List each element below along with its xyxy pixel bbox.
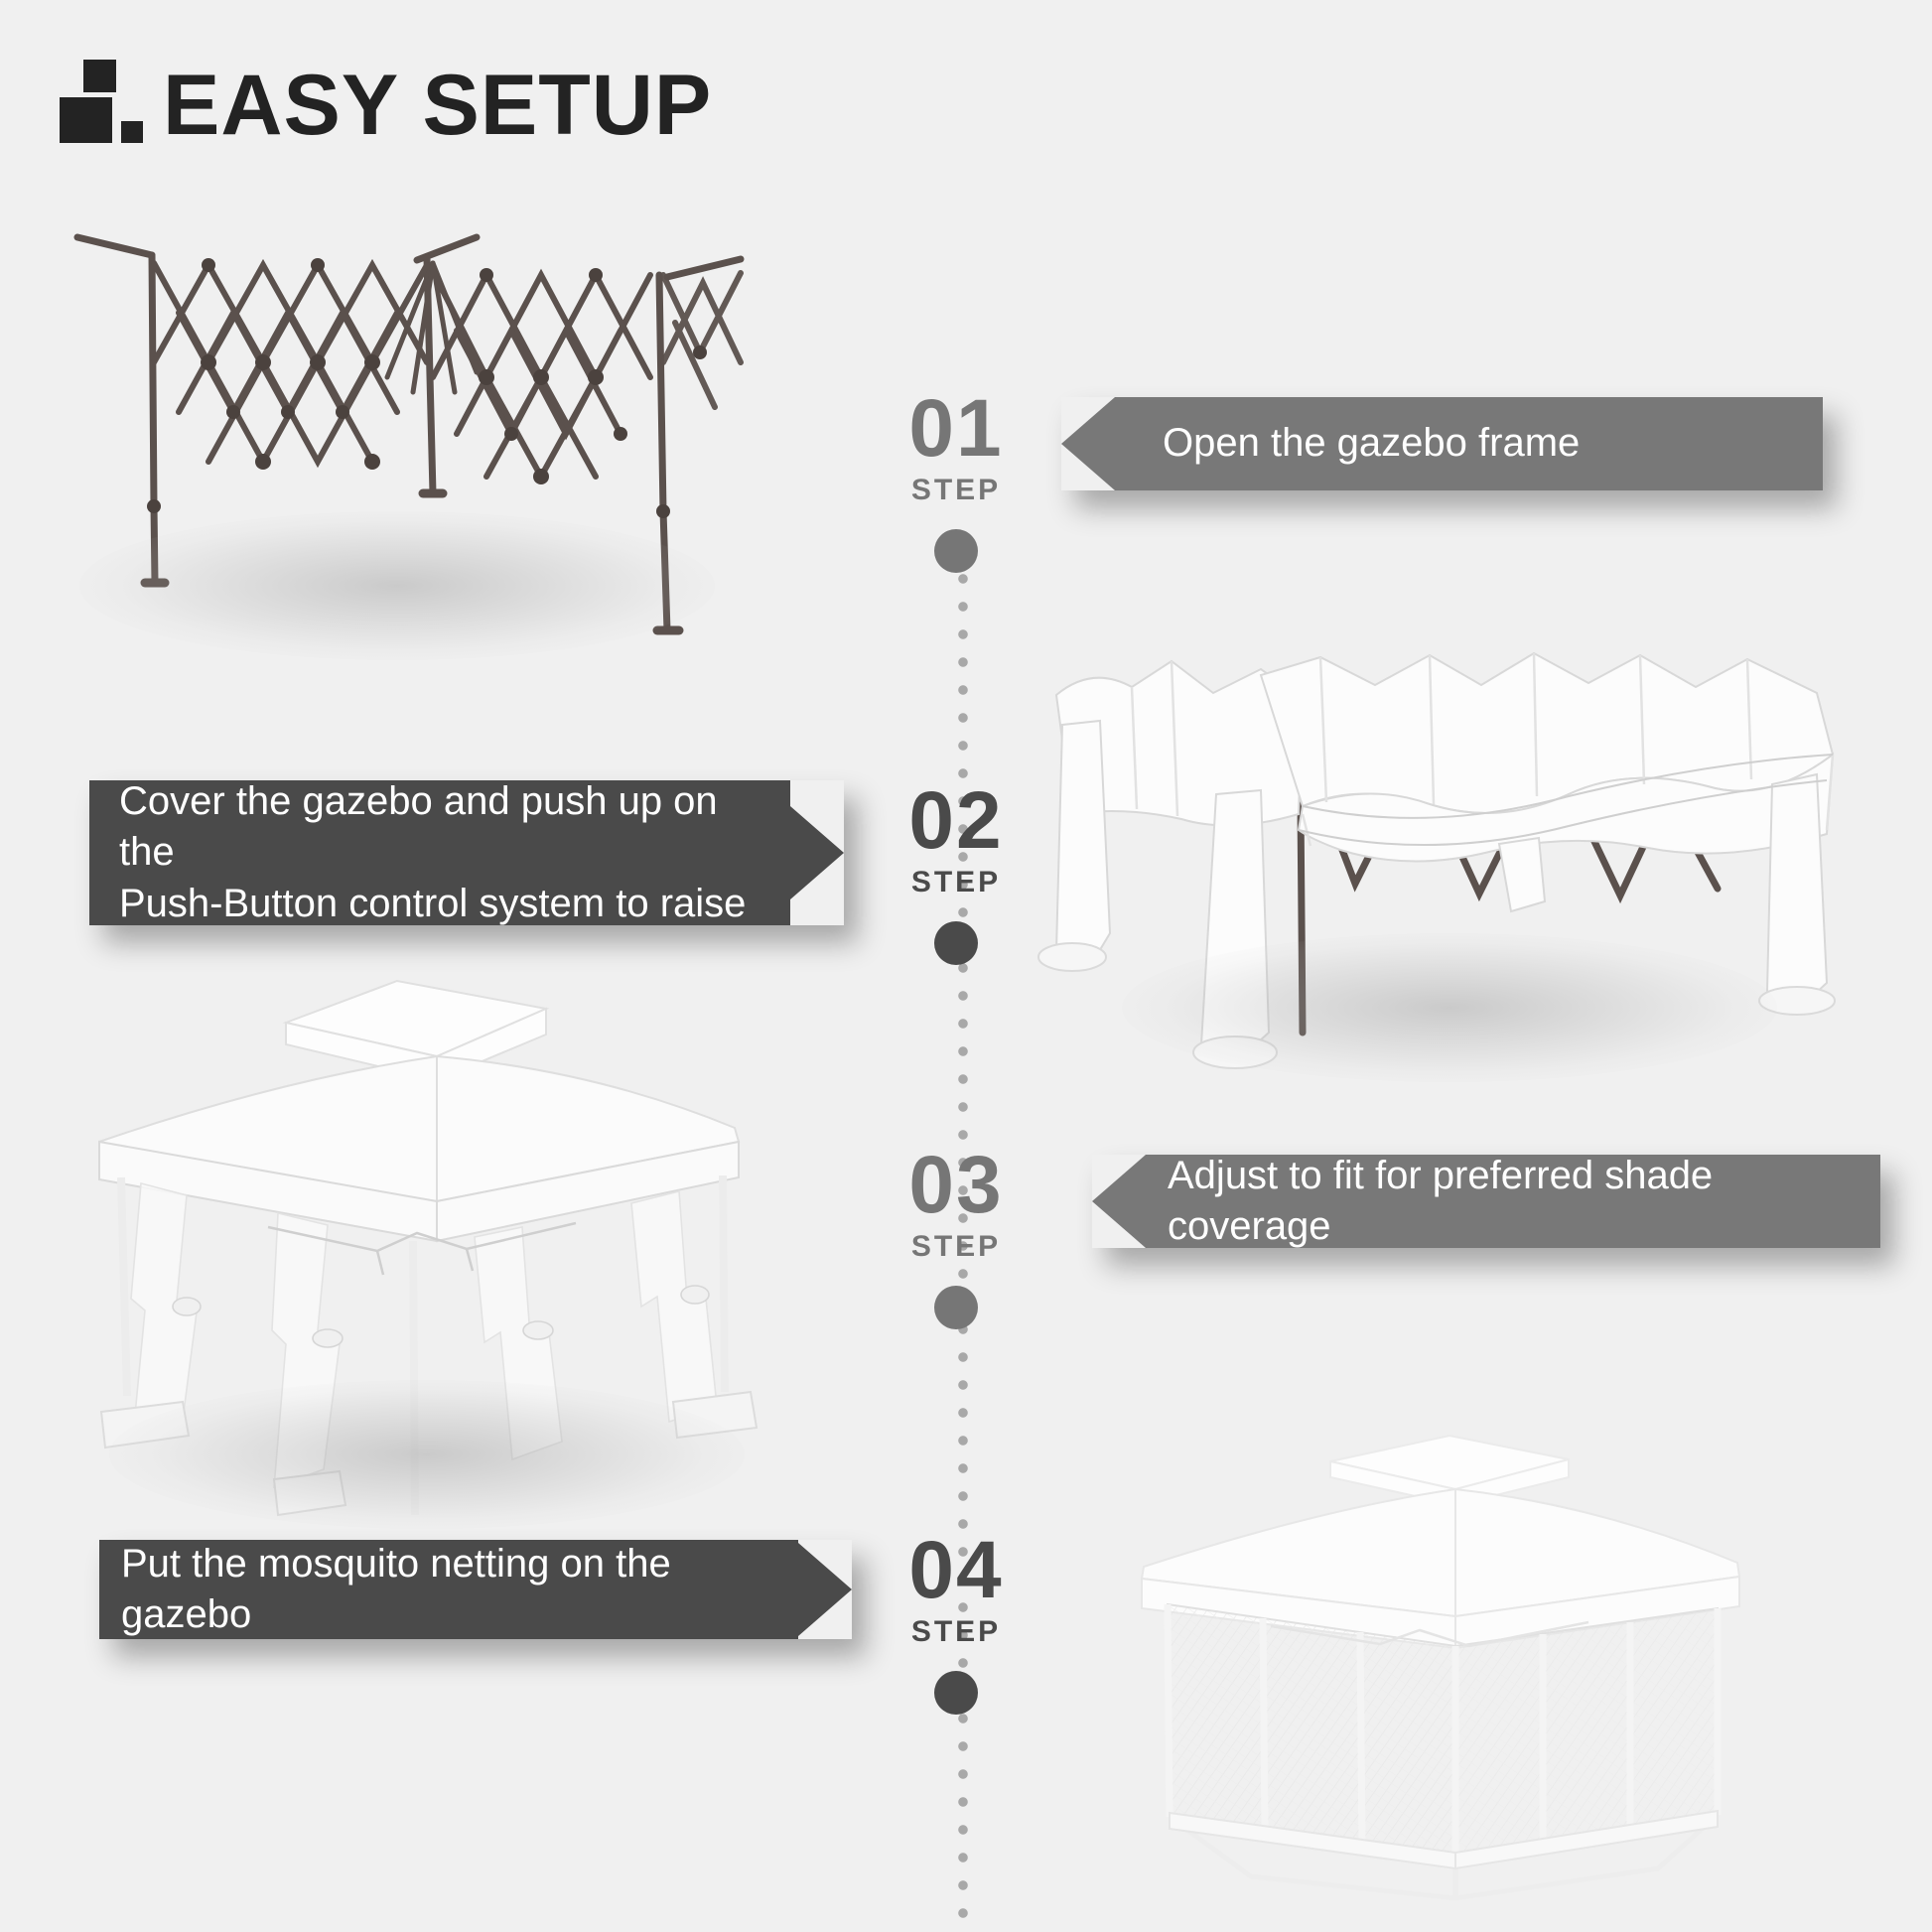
callout-text: Open the gazebo frame bbox=[1163, 418, 1580, 469]
photo-gazebo-with-mosquito-netting bbox=[1122, 1420, 1757, 1926]
callout-text: Cover the gazebo and push up on the Push… bbox=[119, 776, 760, 929]
step-number: 01 bbox=[827, 392, 1085, 466]
step-bullet-dot-icon bbox=[934, 1671, 978, 1715]
step-bullet-dot-icon bbox=[934, 529, 978, 573]
page-header: EASY SETUP bbox=[60, 52, 712, 147]
step-marker-03: 03 STEP bbox=[827, 1149, 1085, 1329]
step-number: 04 bbox=[827, 1534, 1085, 1607]
callout-text: Adjust to fit for preferred shade covera… bbox=[1168, 1151, 1859, 1252]
photo-gazebo-raised-with-curtains bbox=[79, 953, 774, 1529]
bubble-arrow-right-icon bbox=[798, 1543, 852, 1636]
step-bullet-dot-icon bbox=[934, 921, 978, 965]
mosquito-netting-illustration bbox=[1122, 1420, 1757, 1926]
callout-bubble-01[interactable]: Open the gazebo frame bbox=[1061, 397, 1823, 490]
step-marker-04: 04 STEP bbox=[827, 1534, 1085, 1715]
step-word-label: STEP bbox=[827, 474, 1085, 507]
three-squares-mark-icon bbox=[60, 52, 137, 141]
callout-text: Put the mosquito netting on the gazebo bbox=[121, 1539, 776, 1640]
step-word-label: STEP bbox=[827, 1230, 1085, 1264]
step-marker-01: 01 STEP bbox=[827, 392, 1085, 573]
bubble-arrow-left-icon bbox=[1092, 1155, 1146, 1248]
infographic-canvas: EASY SETUP 01 STEP Open the gazebo frame… bbox=[0, 0, 1932, 1932]
callout-bubble-03[interactable]: Adjust to fit for preferred shade covera… bbox=[1092, 1155, 1880, 1248]
page-title: EASY SETUP bbox=[163, 66, 712, 147]
callout-bubble-02[interactable]: Cover the gazebo and push up on the Push… bbox=[89, 780, 844, 925]
step-word-label: STEP bbox=[827, 1615, 1085, 1649]
photo-gazebo-canopy-draped bbox=[1033, 635, 1857, 1082]
bubble-arrow-right-icon bbox=[790, 806, 844, 899]
photo-gazebo-frame-opened bbox=[60, 213, 745, 640]
bubble-arrow-left-icon bbox=[1061, 397, 1115, 490]
step-bullet-dot-icon bbox=[934, 1286, 978, 1329]
callout-bubble-04[interactable]: Put the mosquito netting on the gazebo bbox=[99, 1540, 852, 1639]
step-number: 03 bbox=[827, 1149, 1085, 1222]
